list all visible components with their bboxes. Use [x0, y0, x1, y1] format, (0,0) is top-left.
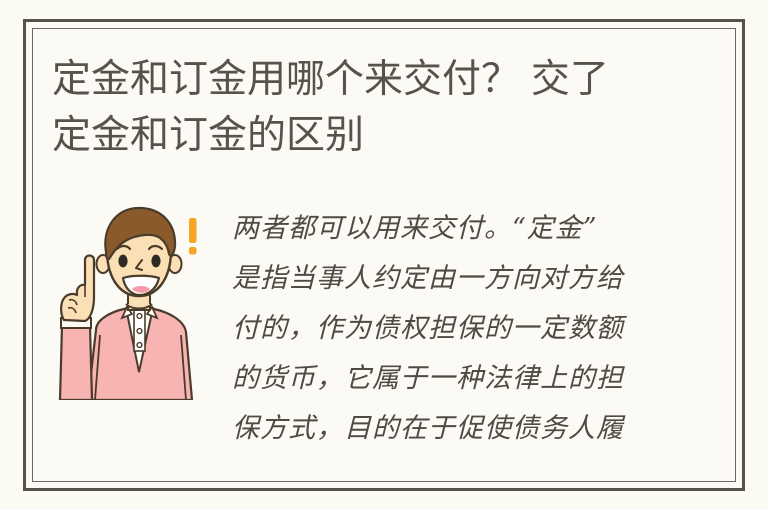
man-pointing-up-illustration — [52, 202, 214, 400]
page-title: 定金和订金用哪个来交付？ 交了 定金和订金的区别 — [52, 52, 702, 164]
sleeve-icon — [60, 318, 92, 400]
article-body-line-1: 两者都可以用来交付。“定金” — [232, 204, 702, 254]
page-title-line-2: 定金和订金的区别 — [52, 108, 702, 164]
pointing-hand-icon — [61, 256, 94, 322]
article-content-row: 两者都可以用来交付。“定金” 是指当事人约定由一方向对方给 付的，作为债权担保的… — [52, 196, 702, 466]
article-card-page: 定金和订金用哪个来交付？ 交了 定金和订金的区别 — [0, 0, 768, 510]
article-body-line-3: 付的，作为债权担保的一定数额 — [232, 304, 702, 354]
article-body-line-4: 的货币，它属于一种法律上的担 — [232, 354, 702, 404]
exclamation-mark-icon — [189, 218, 197, 255]
page-title-line-1: 定金和订金用哪个来交付？ 交了 — [52, 52, 702, 108]
article-body-line-2: 是指当事人约定由一方向对方给 — [232, 254, 702, 304]
article-body: 两者都可以用来交付。“定金” 是指当事人约定由一方向对方给 付的，作为债权担保的… — [232, 196, 702, 454]
eye-icon — [118, 255, 127, 268]
article-body-line-5: 保方式，目的在于促使债务人履 — [232, 404, 702, 454]
eye-icon — [151, 255, 160, 268]
